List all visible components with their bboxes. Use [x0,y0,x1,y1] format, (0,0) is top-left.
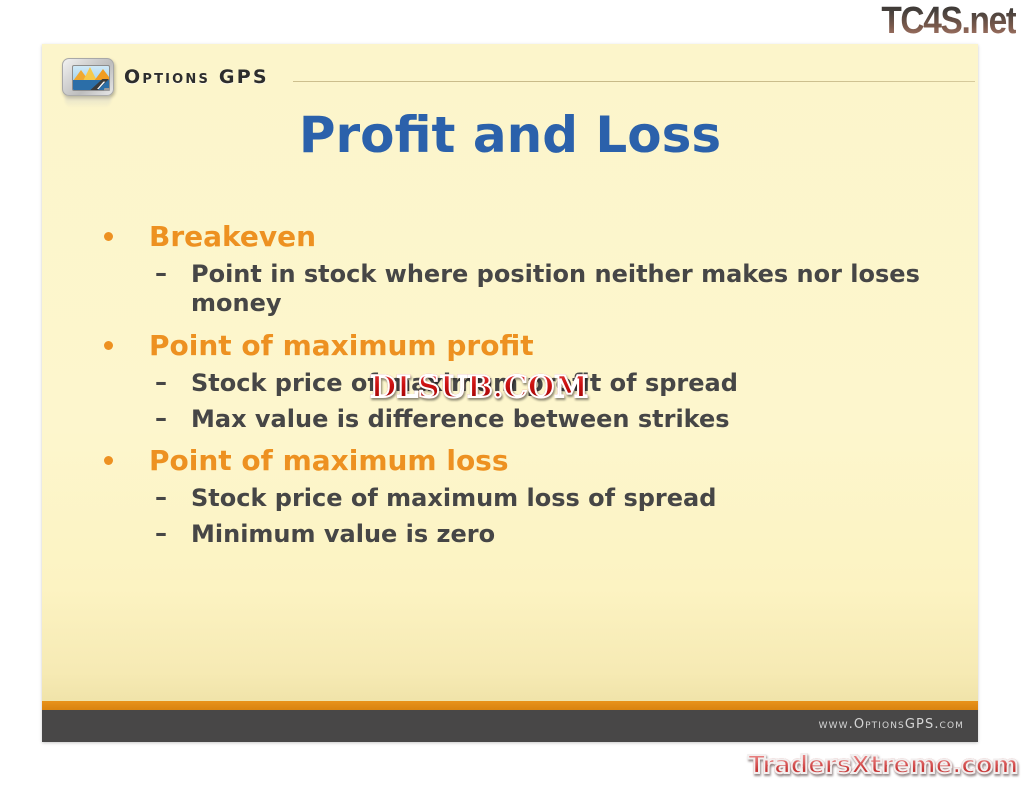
bullet-level1: Breakeven [97,220,947,253]
dlsub-watermark: DLSUB.COM [370,370,588,405]
tc4s-brand-mark: TC4S.net [882,0,1016,44]
slide-header: Options GPS [42,44,978,100]
bullet-dot-icon [104,341,113,350]
bullet-dash-icon: – [155,404,167,433]
options-gps-wordmark: Options GPS [124,66,269,88]
footer-band: www.OptionsGPS.com [42,710,978,742]
bullet-level1-label: Breakeven [149,220,316,253]
bullet-dash-icon: – [155,483,167,512]
page-title: Profit and Loss [42,106,978,164]
footer-url: www.OptionsGPS.com [819,717,964,732]
bullet-level2: – Point in stock where position neither … [97,260,947,319]
bullet-level2: – Max value is difference between strike… [97,405,947,434]
gps-device-icon [60,56,118,104]
bullet-level1: Point of maximum loss [97,444,947,477]
bullet-dash-icon: – [155,519,167,548]
screenshot-root: TC4S.net Options GPS [0,0,1024,791]
bullet-level1-label: Point of maximum profit [149,329,534,362]
footer-accent-bar [42,701,978,710]
bullet-dash-icon: – [155,368,167,397]
bullet-level2-label: Stock price of maximum loss of spread [191,484,716,512]
bullet-dot-icon [104,456,113,465]
gps-device-button [104,88,110,91]
bullet-level2: – Minimum value is zero [97,520,947,549]
gps-device-body [62,58,114,96]
bullet-level2-label: Point in stock where position neither ma… [191,260,920,317]
header-divider [293,81,975,82]
bullet-level1: Point of maximum profit [97,329,947,362]
bullet-dash-icon: – [155,259,167,288]
bullet-level2: – Stock price of maximum loss of spread [97,484,947,513]
bullet-level2-label: Max value is difference between strikes [191,405,730,433]
bullet-level1-label: Point of maximum loss [149,444,509,477]
bullet-dot-icon [104,232,113,241]
tradersxtreme-brand-mark: TradersXtreme.com [748,750,1018,779]
bullet-level2-label: Minimum value is zero [191,520,495,548]
